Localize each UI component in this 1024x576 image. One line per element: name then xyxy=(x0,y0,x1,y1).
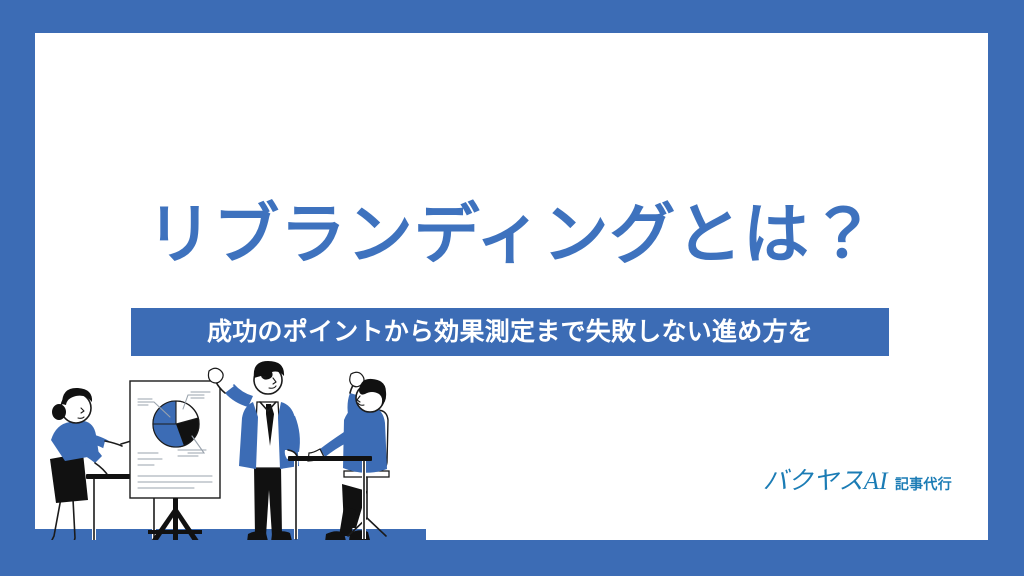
business-team-illustration: .ln { fill:none; stroke:#1b1b1b; stroke-… xyxy=(35,358,426,540)
jacket-left xyxy=(239,402,258,469)
hair-bun xyxy=(52,404,66,420)
skirt xyxy=(50,453,88,503)
flipchart xyxy=(130,381,220,540)
figure-woman-pointing xyxy=(40,388,131,540)
subtitle-text: 成功のポイントから効果測定まで失敗しない進め方を xyxy=(207,320,813,345)
brand-logo-main: バクヤスAI xyxy=(763,461,888,497)
page-title: リブランディングとは？ xyxy=(35,201,988,267)
illustration-svg: .ln { fill:none; stroke:#1b1b1b; stroke-… xyxy=(35,358,426,540)
slide-content-area: リブランディングとは？ 成功のポイントから効果測定まで失敗しない進め方を バクヤ… xyxy=(35,33,988,540)
slide-canvas: リブランディングとは？ 成功のポイントから効果測定まで失敗しない進め方を バクヤ… xyxy=(0,0,1024,576)
brand-logo: バクヤスAI 記事代行 xyxy=(763,461,952,497)
subtitle-band: 成功のポイントから効果測定まで失敗しない進め方を xyxy=(131,308,889,356)
trousers xyxy=(254,466,282,536)
figure-man-raising-hand xyxy=(208,361,299,540)
brand-logo-sub: 記事代行 xyxy=(895,474,952,494)
